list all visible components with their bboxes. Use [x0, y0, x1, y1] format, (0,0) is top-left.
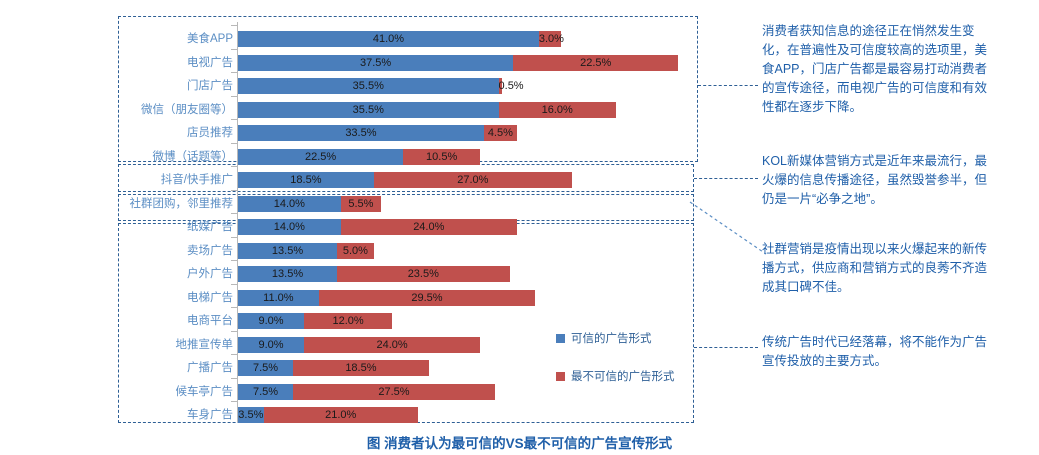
chart-canvas: 美食APP41.0%3.0%电视广告37.5%22.5%门店广告35.5%0.5… [0, 0, 1039, 455]
annotation-traditional: 传统广告时代已经落幕，将不能作为广告宣传投放的主要方式。 [762, 333, 998, 371]
bar-value-label: 22.5% [305, 151, 336, 163]
bar-segment: 12.0% [304, 313, 392, 329]
bar-segment: 13.5% [238, 266, 337, 282]
category-label: 店员推荐 [128, 121, 233, 145]
bar-value-label: 24.0% [413, 221, 444, 233]
bar-value-label: 16.0% [542, 104, 573, 116]
axis-tick [231, 190, 237, 191]
bar-segment: 22.5% [238, 149, 403, 165]
annotation-kol: KOL新媒体营销方式是近年来最流行，最火爆的信息传播途径，虽然毁誉参半，但仍是一… [762, 152, 998, 209]
bar-segment: 5.5% [341, 196, 381, 212]
bar-segment: 24.0% [304, 337, 480, 353]
bar-value-label: 3.5% [238, 409, 263, 421]
bar-row: 卖场广告13.5%5.0% [128, 239, 693, 263]
axis-tick [231, 119, 237, 120]
category-label: 纸媒广告 [128, 215, 233, 239]
bar-segment: 9.0% [238, 337, 304, 353]
bar-value-label: 27.0% [457, 174, 488, 186]
bar-value-label: 5.0% [343, 245, 368, 257]
connector-annot-1 [698, 85, 758, 86]
category-label: 地推宣传单 [128, 333, 233, 357]
bar-segment: 7.5% [238, 384, 293, 400]
bar-row: 纸媒广告14.0%24.0% [128, 215, 693, 239]
bar-value-label: 9.0% [258, 339, 283, 351]
category-label: 户外广告 [128, 262, 233, 286]
bar-row: 抖音/快手推广18.5%27.0% [128, 168, 693, 192]
axis-tick [231, 143, 237, 144]
bar-value-label: 9.0% [258, 315, 283, 327]
bar-value-label: 3.0% [539, 33, 564, 45]
axis-tick [231, 25, 237, 26]
bar-row: 电梯广告11.0%29.5% [128, 286, 693, 310]
bar-row: 店员推荐33.5%4.5% [128, 121, 693, 145]
bar-segment: 27.5% [293, 384, 495, 400]
bar-segment: 35.5% [238, 78, 499, 94]
bar-value-label: 35.5% [353, 80, 384, 92]
connector-annot-2 [694, 178, 758, 179]
category-label: 电商平台 [128, 309, 233, 333]
category-label: 社群团购，邻里推荐 [128, 192, 233, 216]
bar-row: 美食APP41.0%3.0% [128, 27, 693, 51]
bar-value-label: 14.0% [274, 221, 305, 233]
axis-tick [231, 401, 237, 402]
bar-row: 门店广告35.5%0.5% [128, 74, 693, 98]
bar-segment: 22.5% [513, 55, 678, 71]
bar-row: 车身广告3.5%21.0% [128, 403, 693, 427]
bar-segment: 14.0% [238, 196, 341, 212]
category-label: 卖场广告 [128, 239, 233, 263]
bar-segment: 16.0% [499, 102, 616, 118]
axis-tick [231, 72, 237, 73]
bar-value-label: 18.5% [290, 174, 321, 186]
bar-segment: 10.5% [403, 149, 480, 165]
bar-row: 微博（话题等）22.5%10.5% [128, 145, 693, 169]
bar-row: 电视广告37.5%22.5% [128, 51, 693, 75]
category-label: 电梯广告 [128, 286, 233, 310]
annotation-community: 社群营销是疫情出现以来火爆起来的新传播方式，供应商和营销方式的良莠不齐造成其口碑… [762, 240, 998, 297]
axis-tick [231, 49, 237, 50]
axis-tick [231, 96, 237, 97]
axis-tick [231, 307, 237, 308]
bar-segment: 3.0% [539, 31, 561, 47]
axis-tick [231, 378, 237, 379]
bar-segment: 29.5% [319, 290, 535, 306]
bar-segment: 0.5% [499, 78, 503, 94]
bar-segment: 33.5% [238, 125, 484, 141]
bar-segment: 24.0% [341, 219, 517, 235]
bar-value-label: 41.0% [373, 33, 404, 45]
bar-row: 社群团购，邻里推荐14.0%5.5% [128, 192, 693, 216]
axis-tick [231, 237, 237, 238]
bar-segment: 27.0% [374, 172, 572, 188]
bar-segment: 13.5% [238, 243, 337, 259]
bar-value-label: 24.0% [377, 339, 408, 351]
axis-tick [231, 260, 237, 261]
bar-segment: 4.5% [484, 125, 517, 141]
bar-value-label: 37.5% [360, 57, 391, 69]
connector-annot-4 [694, 347, 758, 348]
category-label: 电视广告 [128, 51, 233, 75]
bar-segment: 7.5% [238, 360, 293, 376]
bar-value-label: 10.5% [426, 151, 457, 163]
bar-segment: 18.5% [293, 360, 429, 376]
bar-segment: 3.5% [238, 407, 264, 423]
bar-segment: 18.5% [238, 172, 374, 188]
bar-segment: 11.0% [238, 290, 319, 306]
bar-value-label: 22.5% [580, 57, 611, 69]
bar-value-label: 14.0% [274, 198, 305, 210]
category-label: 门店广告 [128, 74, 233, 98]
legend-label: 最不可信的广告形式 [571, 368, 675, 384]
bar-value-label: 7.5% [253, 386, 278, 398]
bar-segment: 14.0% [238, 219, 341, 235]
bar-value-label: 11.0% [263, 292, 293, 304]
bar-segment: 37.5% [238, 55, 513, 71]
bar-value-label: 35.5% [353, 104, 384, 116]
legend-swatch-icon [556, 334, 565, 343]
category-label: 抖音/快手推广 [128, 168, 233, 192]
legend-label: 可信的广告形式 [571, 330, 652, 346]
axis-tick [231, 166, 237, 167]
bar-row: 微信（朋友圈等）35.5%16.0% [128, 98, 693, 122]
bar-segment: 9.0% [238, 313, 304, 329]
bar-value-label: 5.5% [348, 198, 373, 210]
bar-value-label: 29.5% [411, 292, 442, 304]
bar-segment: 35.5% [238, 102, 499, 118]
legend-item: 可信的广告形式 [556, 330, 675, 346]
axis-tick [231, 213, 237, 214]
axis-tick [231, 284, 237, 285]
bar-segment: 23.5% [337, 266, 509, 282]
bar-segment: 41.0% [238, 31, 539, 47]
figure-caption: 图 消费者认为最可信的VS最不可信的广告宣传形式 [0, 432, 1039, 452]
category-label: 候车亭广告 [128, 380, 233, 404]
bar-value-label: 21.0% [325, 409, 356, 421]
bar-segment: 5.0% [337, 243, 374, 259]
category-label: 广播广告 [128, 356, 233, 380]
bar-value-label: 18.5% [345, 362, 376, 374]
bar-value-label: 27.5% [378, 386, 409, 398]
bar-value-label: 4.5% [488, 127, 513, 139]
bar-value-label: 13.5% [272, 268, 303, 280]
bar-value-label: 7.5% [253, 362, 278, 374]
legend-swatch-icon [556, 372, 565, 381]
category-label: 美食APP [128, 27, 233, 51]
annotation-trusted: 消费者获知信息的途径正在悄然发生变化，在普遍性及可信度较高的选项里，美食APP，… [762, 22, 998, 117]
axis-tick [231, 354, 237, 355]
bar-value-label: 0.5% [499, 80, 524, 92]
category-label: 车身广告 [128, 403, 233, 427]
bar-value-label: 23.5% [408, 268, 439, 280]
bar-value-label: 13.5% [272, 245, 303, 257]
category-label: 微信（朋友圈等） [128, 98, 233, 122]
bar-segment: 21.0% [264, 407, 418, 423]
axis-tick [231, 331, 237, 332]
bar-value-label: 12.0% [332, 315, 363, 327]
legend-item: 最不可信的广告形式 [556, 368, 675, 384]
category-label: 微博（话题等） [128, 145, 233, 169]
chart-legend: 可信的广告形式最不可信的广告形式 [556, 330, 675, 406]
bar-value-label: 33.5% [345, 127, 376, 139]
bar-row: 户外广告13.5%23.5% [128, 262, 693, 286]
